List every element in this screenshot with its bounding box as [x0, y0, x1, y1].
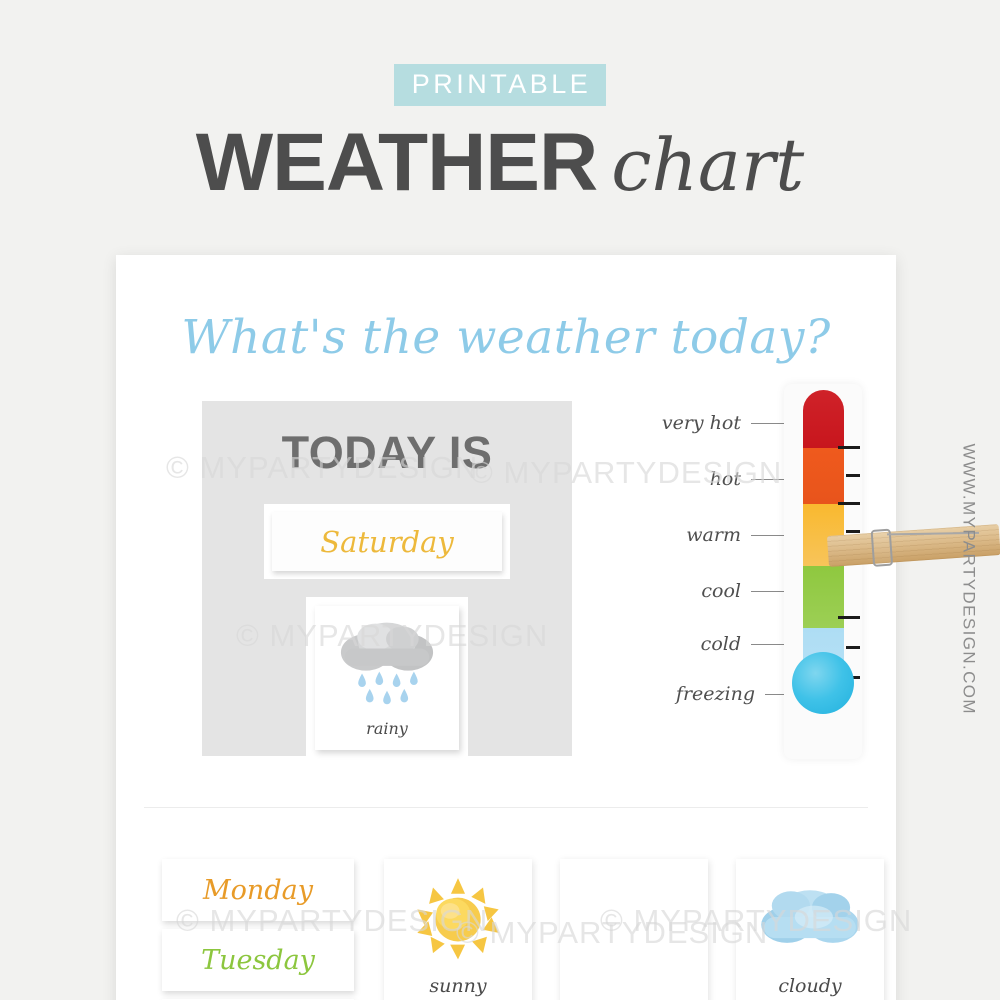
day-card-label: Monday — [203, 875, 313, 906]
page-title: WEATHERchart — [0, 122, 1000, 204]
thermometer-body — [784, 384, 862, 759]
watermark-website: WWW.MYPARTYDESIGN.COM — [958, 444, 978, 716]
band-hot — [803, 448, 844, 504]
section-divider — [144, 807, 868, 808]
title-weather: WEATHER — [196, 117, 597, 208]
scale-label-freezing: freezing — [676, 683, 755, 705]
thermometer-bulb — [792, 652, 854, 714]
scale-row-cold[interactable]: cold — [616, 633, 791, 655]
printable-sheet: What's the weather today? TODAY IS Satur… — [116, 255, 896, 1000]
scale-label-hot: hot — [710, 468, 741, 490]
scale-row-freezing[interactable]: freezing — [616, 683, 791, 705]
scale-row-warm[interactable]: warm — [616, 524, 791, 546]
today-day-label: Saturday — [320, 525, 454, 559]
tick-mark — [838, 616, 860, 619]
printable-badge: PRINTABLE — [394, 64, 607, 106]
weather-card-cloudy[interactable]: cloudy — [736, 859, 884, 1000]
scale-label-cold: cold — [701, 633, 741, 655]
tick-mark — [846, 530, 860, 533]
today-panel: TODAY IS Saturday — [202, 401, 572, 756]
scale-row-hot[interactable]: hot — [616, 468, 791, 490]
card-tray: Monday Tuesday — [144, 853, 868, 1000]
today-day-card[interactable]: Saturday — [272, 512, 502, 571]
page-canvas: PRINTABLE WEATHERchart What's the weathe… — [0, 0, 1000, 1000]
today-weather-label: rainy — [315, 719, 459, 738]
sun-icon — [384, 875, 532, 961]
day-card-tuesday[interactable]: Tuesday — [162, 929, 354, 991]
day-card-label: Tuesday — [201, 945, 315, 976]
cloud-icon — [736, 875, 884, 961]
tick-mark — [838, 502, 860, 505]
scale-label-warm: warm — [686, 524, 741, 546]
scale-row-cool[interactable]: cool — [616, 580, 791, 602]
title-chart: chart — [611, 123, 804, 207]
band-very-hot — [803, 390, 844, 448]
scale-label-cool: cool — [701, 580, 741, 602]
weather-card-blank[interactable] — [560, 859, 708, 1000]
today-day-slot[interactable]: Saturday — [264, 504, 510, 579]
thermometer-scale: very hot hot warm cool cold freezing — [616, 390, 791, 760]
tick-mark — [846, 474, 860, 477]
tick-mark — [838, 446, 860, 449]
tick-mark — [846, 646, 860, 649]
scale-row-very-hot[interactable]: very hot — [616, 412, 791, 434]
page-header: PRINTABLE WEATHERchart — [0, 64, 1000, 204]
weather-card-label: sunny — [384, 975, 532, 997]
today-weather-slot[interactable]: rainy — [306, 597, 468, 759]
today-weather-card[interactable]: rainy — [315, 606, 459, 750]
rain-cloud-icon — [315, 614, 459, 710]
thermometer: very hot hot warm cool cold freezing — [616, 390, 896, 760]
scale-label-very-hot: very hot — [662, 412, 741, 434]
day-card-monday[interactable]: Monday — [162, 859, 354, 921]
weather-card-label: cloudy — [736, 975, 884, 997]
sheet-headline: What's the weather today? — [116, 310, 896, 365]
weather-card-sunny[interactable]: sunny — [384, 859, 532, 1000]
today-is-heading: TODAY IS — [202, 427, 572, 479]
blank-card — [560, 875, 708, 961]
